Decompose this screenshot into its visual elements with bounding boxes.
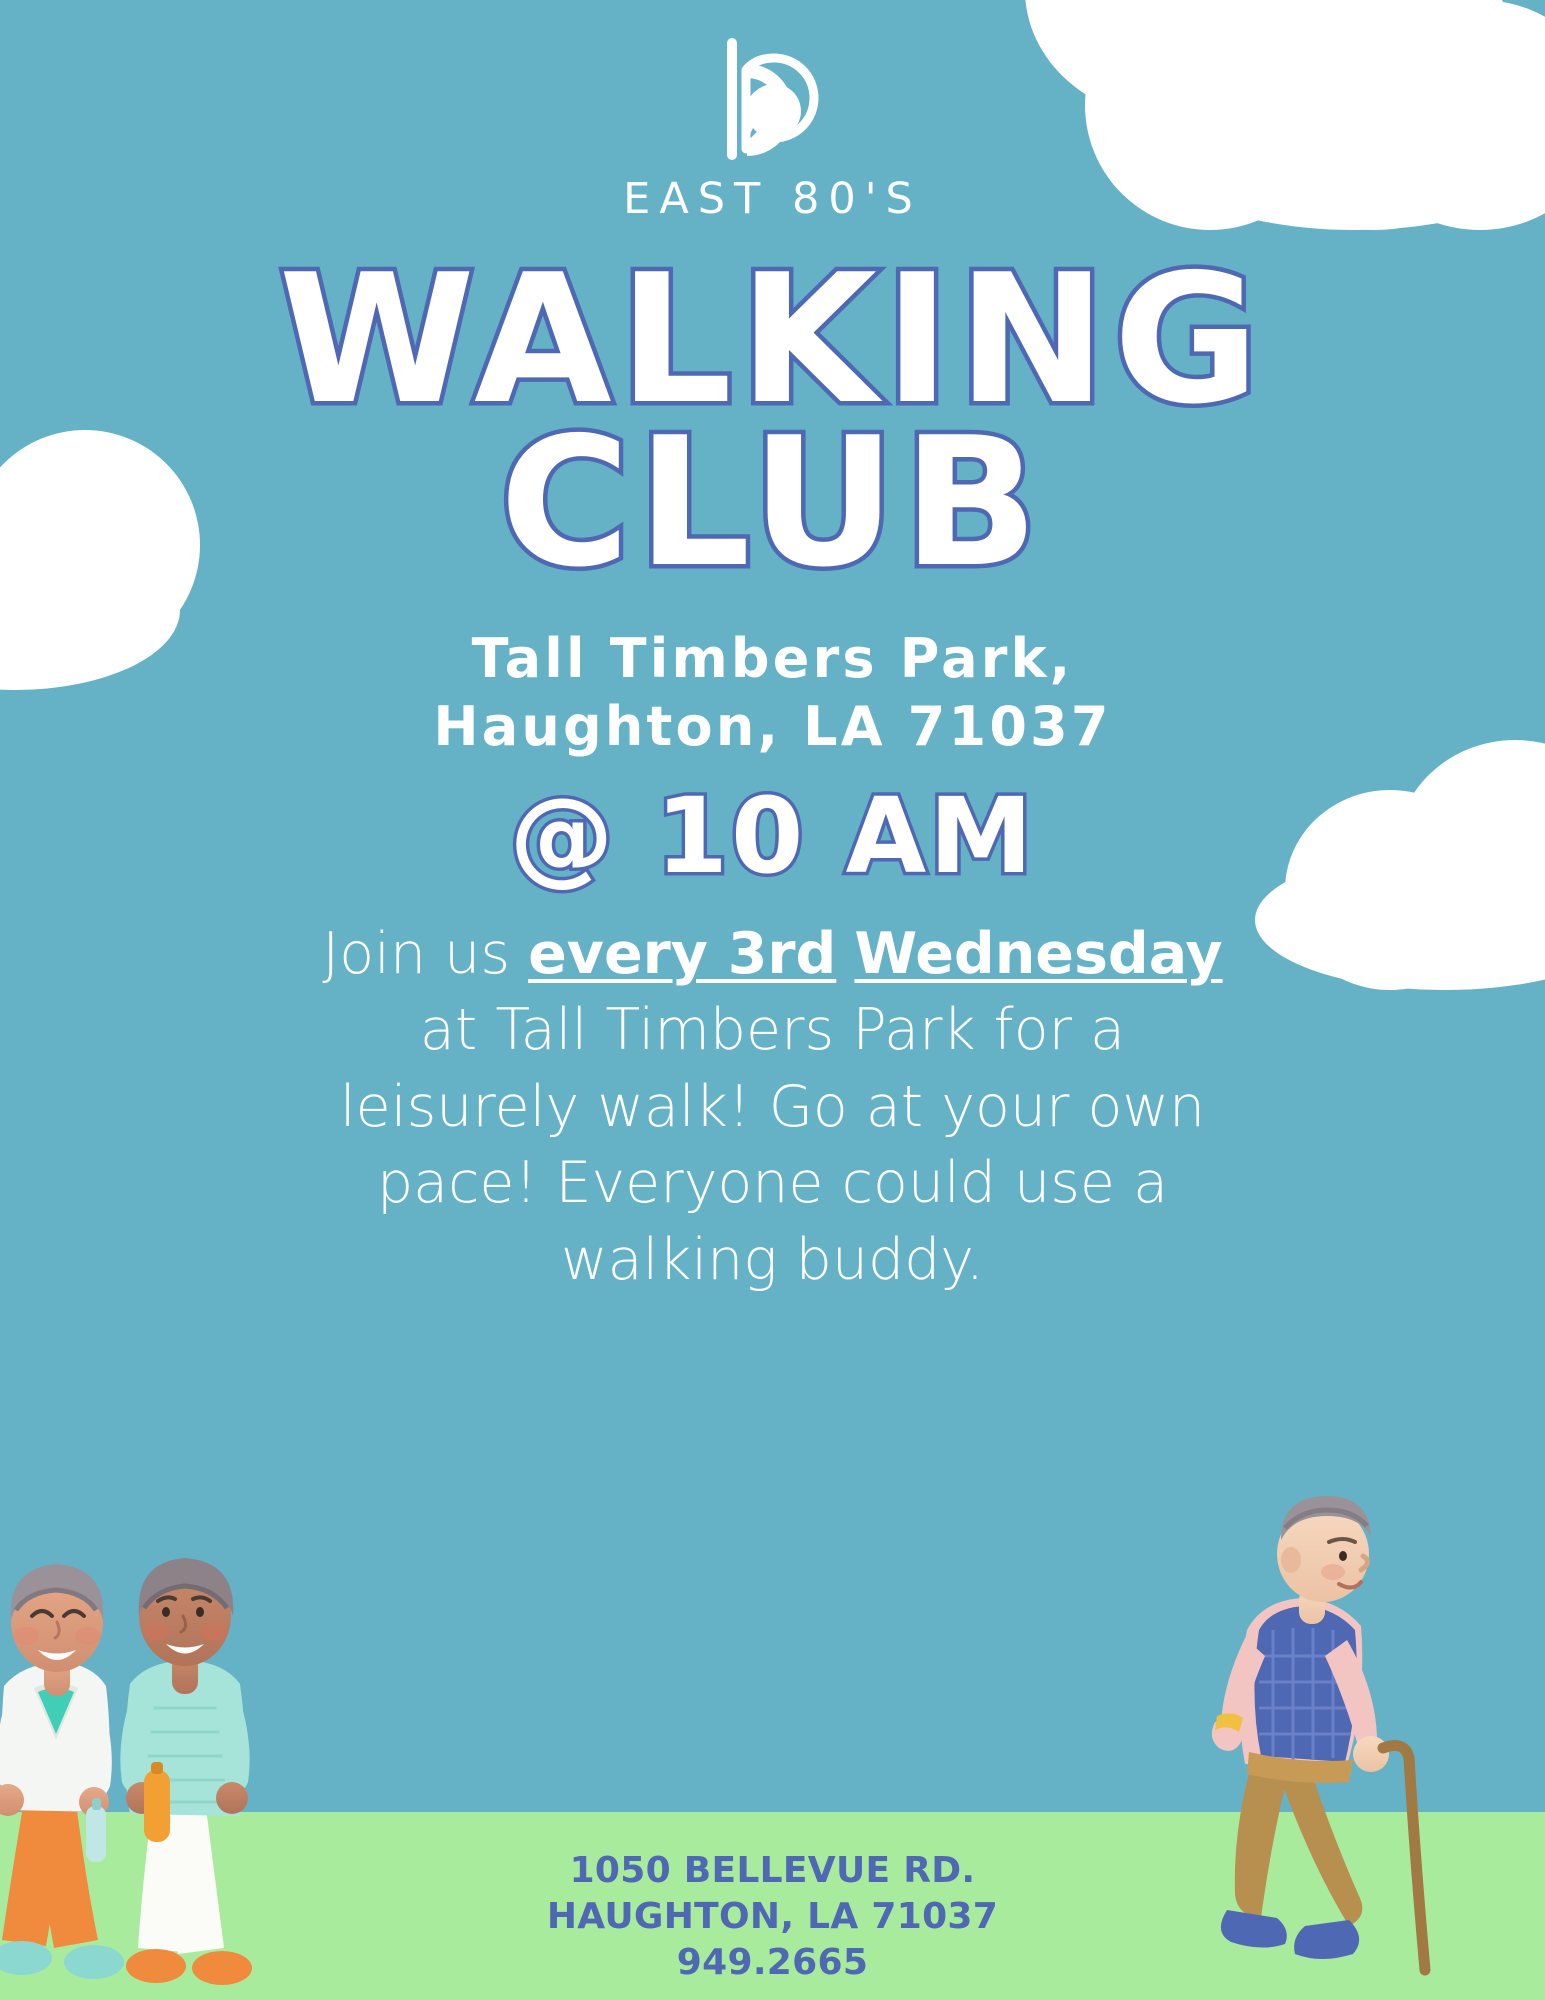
footer-address: 1050 BELLEVUE RD. HAUGHTON, LA 71037 949… — [0, 1848, 1545, 1986]
body-part-2 — [836, 921, 854, 987]
flyer-poster: EAST 80'S WALKING CLUB Tall Timbers Park… — [0, 0, 1545, 2000]
event-time: @ 10 AM — [509, 787, 1035, 886]
location-line-2: Haughton, LA 71037 — [433, 693, 1111, 761]
body-description: Join us every 3rd Wednesday at Tall Timb… — [303, 916, 1243, 1298]
body-highlight-2: Wednesday — [854, 921, 1222, 987]
page-title-line-2: CLUB — [500, 418, 1046, 587]
brand-name: EAST 80'S — [623, 178, 922, 221]
body-part-3: at Tall Timbers Park for a leisurely wal… — [340, 997, 1205, 1292]
location-line-1: Tall Timbers Park, — [433, 625, 1111, 693]
body-highlight-1: every 3rd — [528, 921, 836, 987]
footer-phone: 949.2665 — [0, 1940, 1545, 1986]
footer-city-state-zip: HAUGHTON, LA 71037 — [0, 1894, 1545, 1940]
location-text: Tall Timbers Park, Haughton, LA 71037 — [433, 625, 1111, 761]
flyer-content: EAST 80'S WALKING CLUB Tall Timbers Park… — [0, 0, 1545, 1298]
brand-logo-block: EAST 80'S — [623, 34, 922, 221]
speech-bubble-b-logo-icon — [713, 34, 833, 164]
footer-street: 1050 BELLEVUE RD. — [0, 1848, 1545, 1894]
body-part-1: Join us — [322, 921, 528, 987]
